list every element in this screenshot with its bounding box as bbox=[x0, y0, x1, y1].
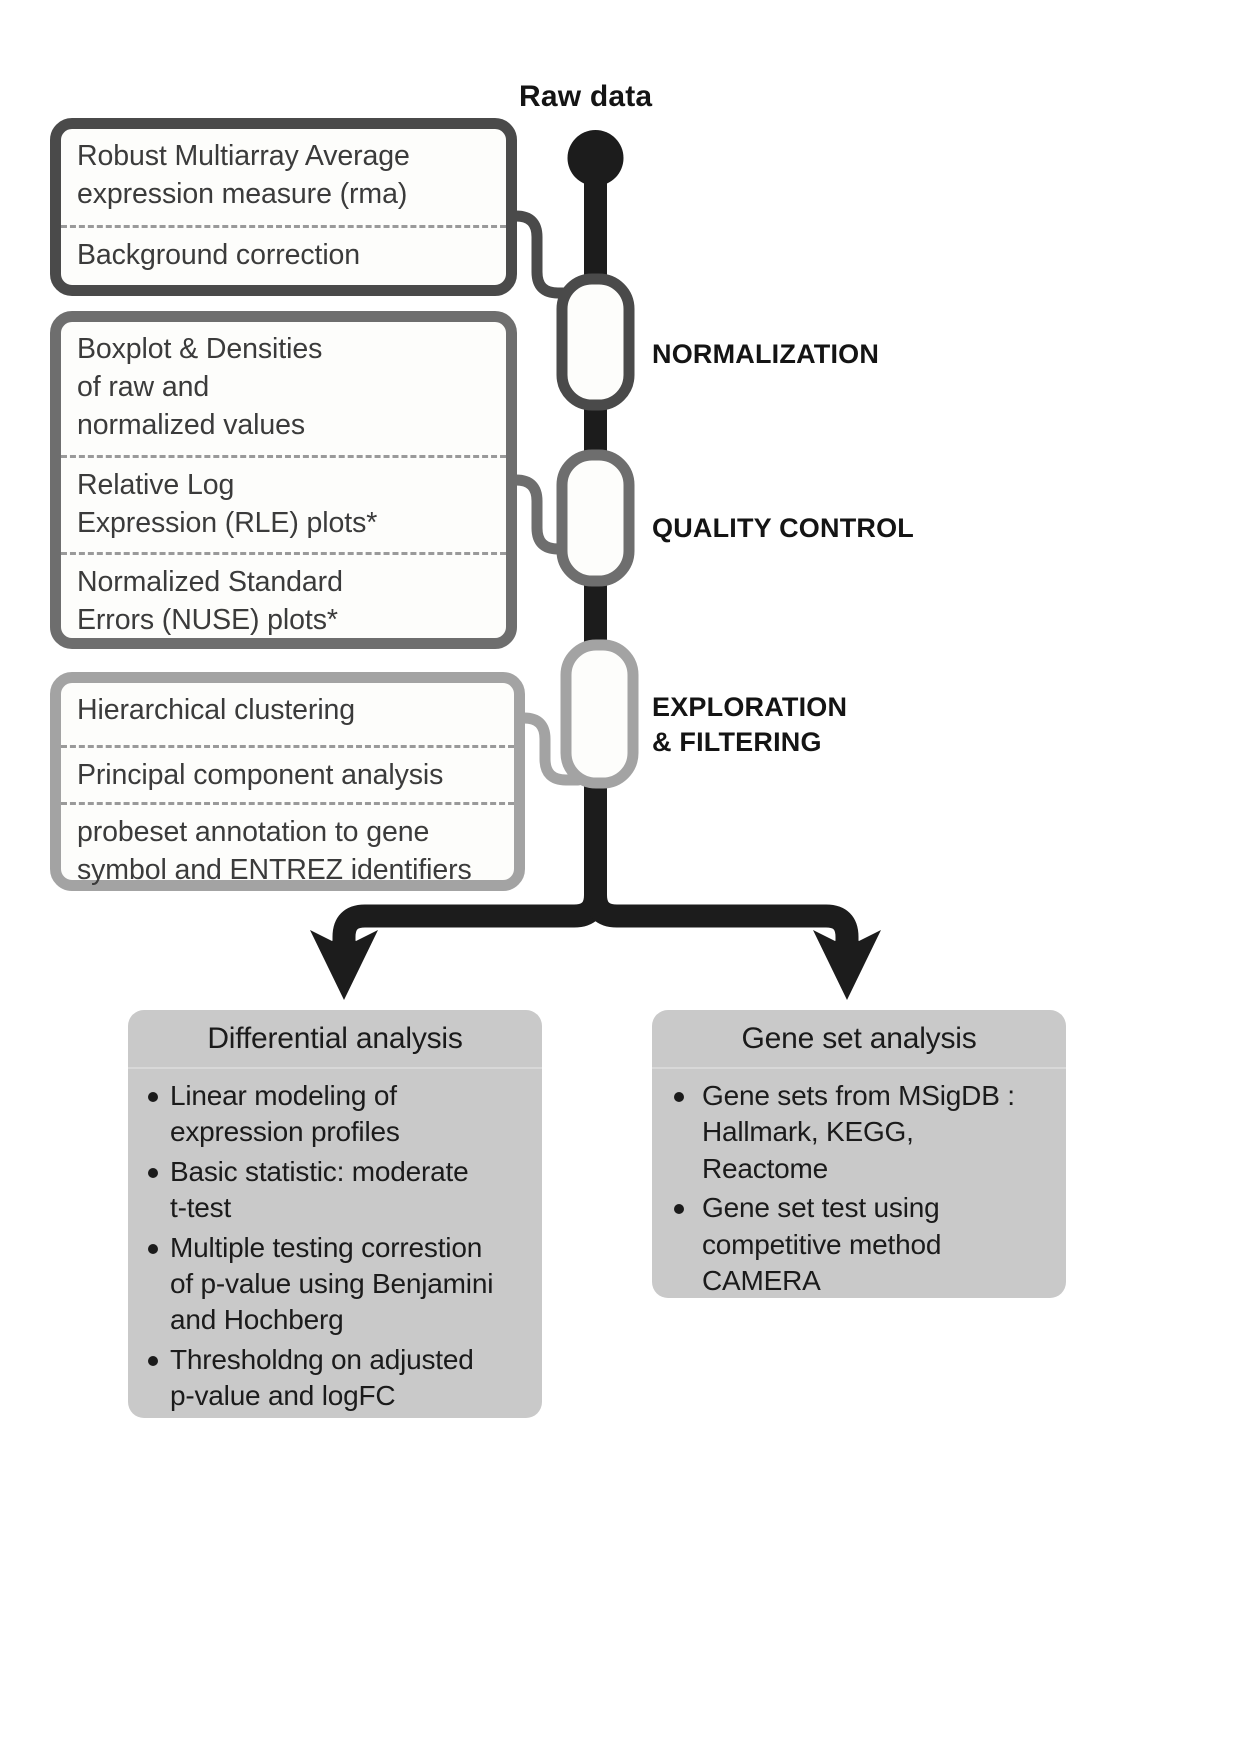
workflow-diagram: Raw data Robust Multiarray Average expre… bbox=[0, 0, 1240, 1753]
stage-connector-exploration-filtering bbox=[524, 645, 633, 783]
stage-label-quality-control: QUALITY CONTROL bbox=[652, 511, 914, 546]
stage-label-exploration-filtering: EXPLORATION & FILTERING bbox=[652, 690, 847, 759]
fork-connector bbox=[310, 880, 881, 1000]
stage-label-normalization: NORMALIZATION bbox=[652, 337, 879, 372]
list-item: Thresholdng on adjusted p-value and logF… bbox=[140, 1342, 530, 1415]
raw-data-node bbox=[568, 130, 624, 186]
stage-connector-normalization bbox=[516, 216, 629, 405]
stage-box-quality-control: Boxplot & Densities of raw and normalize… bbox=[50, 311, 517, 649]
arrowhead-left bbox=[310, 930, 378, 1000]
pill-quality-control bbox=[562, 455, 629, 581]
stage-cell: Relative Log Expression (RLE) plots* bbox=[61, 455, 506, 552]
stage-cell: Normalized Standard Errors (NUSE) plots* bbox=[61, 552, 506, 641]
stage-cell: probeset annotation to gene symbol and E… bbox=[61, 802, 514, 880]
stage-box-normalization: Robust Multiarray Average expression mea… bbox=[50, 118, 517, 296]
stage-cell: Background correction bbox=[61, 225, 506, 285]
panel-title: Differential analysis bbox=[128, 1010, 542, 1069]
output-panel-differential-analysis: Differential analysis Linear modeling of… bbox=[128, 1010, 542, 1418]
panel-title: Gene set analysis bbox=[652, 1010, 1066, 1069]
stage-cell: Robust Multiarray Average expression mea… bbox=[61, 129, 506, 225]
stage-cell: Boxplot & Densities of raw and normalize… bbox=[61, 322, 506, 455]
stage-cell: Principal component analysis bbox=[61, 745, 514, 802]
list-item: Multiple testing correstion of p-value u… bbox=[140, 1230, 530, 1339]
pill-normalization bbox=[562, 279, 629, 405]
list-item: Gene sets from MSigDB : Hallmark, KEGG, … bbox=[664, 1078, 1054, 1187]
raw-data-label: Raw data bbox=[519, 80, 652, 114]
list-item: Basic statistic: moderate t-test bbox=[140, 1154, 530, 1227]
stage-connector-quality-control bbox=[516, 455, 629, 581]
pill-exploration-filtering bbox=[566, 645, 633, 783]
panel-list: Linear modeling of expression profiles B… bbox=[128, 1069, 542, 1418]
list-item: Linear modeling of expression profiles bbox=[140, 1078, 530, 1151]
list-item: Gene set test using competitive method C… bbox=[664, 1190, 1054, 1298]
stage-cell: Hierarchical clustering bbox=[61, 683, 514, 745]
arrowhead-right bbox=[813, 930, 881, 1000]
output-panel-gene-set-analysis: Gene set analysis Gene sets from MSigDB … bbox=[652, 1010, 1066, 1298]
stage-box-exploration-filtering: Hierarchical clustering Principal compon… bbox=[50, 672, 525, 891]
panel-list: Gene sets from MSigDB : Hallmark, KEGG, … bbox=[652, 1069, 1066, 1298]
